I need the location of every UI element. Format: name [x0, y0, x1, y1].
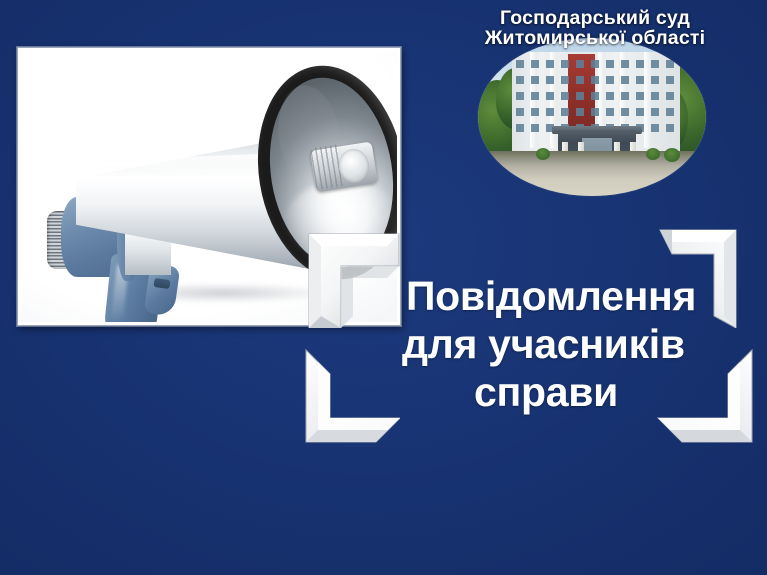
- shrub: [646, 148, 660, 160]
- page-title-line-2: для учасників: [402, 320, 696, 368]
- shrub: [664, 148, 680, 162]
- shrub: [536, 148, 550, 160]
- organisation-title-line-2: Житомирської області: [430, 28, 760, 48]
- page-title-line-1: Повідомлення: [406, 272, 696, 320]
- building-window-row: [516, 108, 676, 116]
- slide-canvas: Господарський суд Житомирської області: [0, 0, 767, 575]
- page-title-line-3: справи: [396, 368, 696, 416]
- organisation-title-line-1: Господарський суд: [430, 8, 760, 28]
- page-title: Повідомлення для учасників справи: [396, 272, 696, 416]
- building-window-row: [516, 76, 676, 84]
- corner-bracket-bottom-left: [304, 348, 400, 444]
- court-building-photo: [478, 38, 706, 196]
- corner-bracket-top-left: [307, 232, 401, 328]
- organisation-title: Господарський суд Житомирської області: [430, 8, 760, 49]
- building-pavement: [478, 158, 706, 196]
- building-window-row: [516, 92, 676, 100]
- building-window-row: [516, 60, 676, 68]
